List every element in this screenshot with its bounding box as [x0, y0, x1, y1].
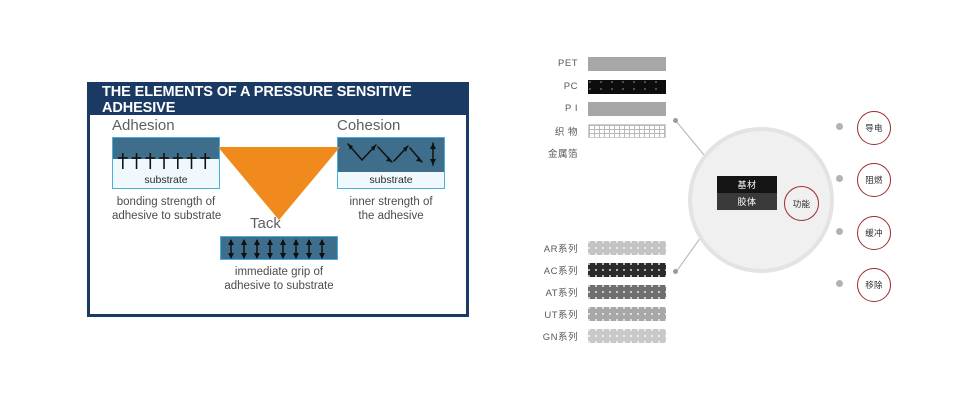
material-row-metal-foil: 金属箔: [522, 145, 666, 160]
material-label-fabric: 织 物: [522, 124, 588, 138]
adhesive-row-gn: GN系列: [522, 328, 666, 343]
material-swatch-pet: [588, 57, 666, 71]
tack-caption-line1: immediate grip of: [220, 265, 338, 279]
function-bullet-2: [836, 175, 843, 182]
cohesion-caption-line2: the adhesive: [337, 209, 445, 223]
cohesion-panel-title: Cohesion: [337, 117, 400, 134]
adhesion-caption: bonding strength of adhesive to substrat…: [112, 195, 220, 223]
adhesion-diagram: substrate: [112, 137, 220, 189]
adhesive-label-gn: GN系列: [522, 329, 588, 343]
material-swatch-metal-foil: [588, 146, 666, 160]
tack-diagram: [220, 236, 338, 260]
adhesion-caption-line1: bonding strength of: [112, 195, 220, 209]
adhesive-swatch-at: [588, 285, 666, 299]
adhesion-panel-title: Adhesion: [112, 117, 175, 134]
adhesive-swatch-gn: [588, 329, 666, 343]
function-circle-removable: 移除: [857, 268, 891, 302]
function-circle-cushioning: 缓冲: [857, 216, 891, 250]
cohesion-substrate-label: substrate: [338, 174, 444, 186]
adhesive-row-at: AT系列: [522, 284, 666, 299]
cohesion-internal-arrows: [338, 138, 446, 172]
adhesive-swatch-ut: [588, 307, 666, 321]
adhesion-caption-line2: adhesive to substrate: [112, 209, 220, 223]
tack-arrows: [221, 237, 339, 261]
material-row-pet: PET: [522, 56, 666, 71]
infographic-title: THE ELEMENTS OF A PRESSURE SENSITIVE ADH…: [102, 84, 466, 116]
material-row-pi: P I: [522, 101, 666, 116]
adhesive-label-ar: AR系列: [522, 241, 588, 255]
adhesive-label-ut: UT系列: [522, 307, 588, 321]
core-band-substrate: 基材: [717, 176, 777, 193]
adhesive-swatch-ac: [588, 263, 666, 277]
cohesion-caption: inner strength of the adhesive: [337, 195, 445, 223]
function-circle-flame-retardant: 阻燃: [857, 163, 891, 197]
adhesive-label-at: AT系列: [522, 285, 588, 299]
function-bullet-4: [836, 280, 843, 287]
infographic-title-bar: THE ELEMENTS OF A PRESSURE SENSITIVE ADH…: [90, 85, 466, 115]
cohesion-caption-line1: inner strength of: [337, 195, 445, 209]
infographic-body: Adhesion substrate bonding strength of a…: [90, 115, 466, 317]
material-swatch-pc: [588, 80, 666, 94]
adhesive-row-ar: AR系列: [522, 240, 666, 255]
adhesive-swatch-ar: [588, 241, 666, 255]
substrate-connector-endpoint: [673, 118, 678, 123]
core-layer-stack: 基材 胶体: [717, 176, 777, 211]
adhesion-interface-arrows: [113, 151, 219, 171]
tack-caption: immediate grip of adhesive to substrate: [220, 265, 338, 293]
function-center-circle: 功能: [784, 186, 819, 221]
core-band-adhesive: 胶体: [717, 193, 777, 210]
material-swatch-pi: [588, 102, 666, 116]
adhesive-connector-endpoint: [673, 269, 678, 274]
material-row-pc: PC: [522, 79, 666, 94]
adhesion-substrate-label: substrate: [113, 174, 219, 186]
orange-triangle-icon: [218, 147, 340, 220]
material-row-fabric: 织 物: [522, 123, 666, 138]
material-label-pet: PET: [522, 58, 588, 69]
material-label-metal-foil: 金属箔: [522, 146, 588, 160]
function-bullet-1: [836, 123, 843, 130]
material-label-pi: P I: [522, 103, 588, 114]
cohesion-diagram: substrate: [337, 137, 445, 189]
adhesive-label-ac: AC系列: [522, 263, 588, 277]
material-label-pc: PC: [522, 81, 588, 92]
pressure-sensitive-adhesive-infographic: THE ELEMENTS OF A PRESSURE SENSITIVE ADH…: [87, 82, 469, 317]
function-bullet-3: [836, 228, 843, 235]
adhesive-row-ut: UT系列: [522, 306, 666, 321]
adhesive-row-ac: AC系列: [522, 262, 666, 277]
material-swatch-fabric: [588, 124, 666, 138]
tack-caption-line2: adhesive to substrate: [220, 279, 338, 293]
function-circle-conductive: 导电: [857, 111, 891, 145]
tack-panel-title: Tack: [250, 215, 281, 232]
